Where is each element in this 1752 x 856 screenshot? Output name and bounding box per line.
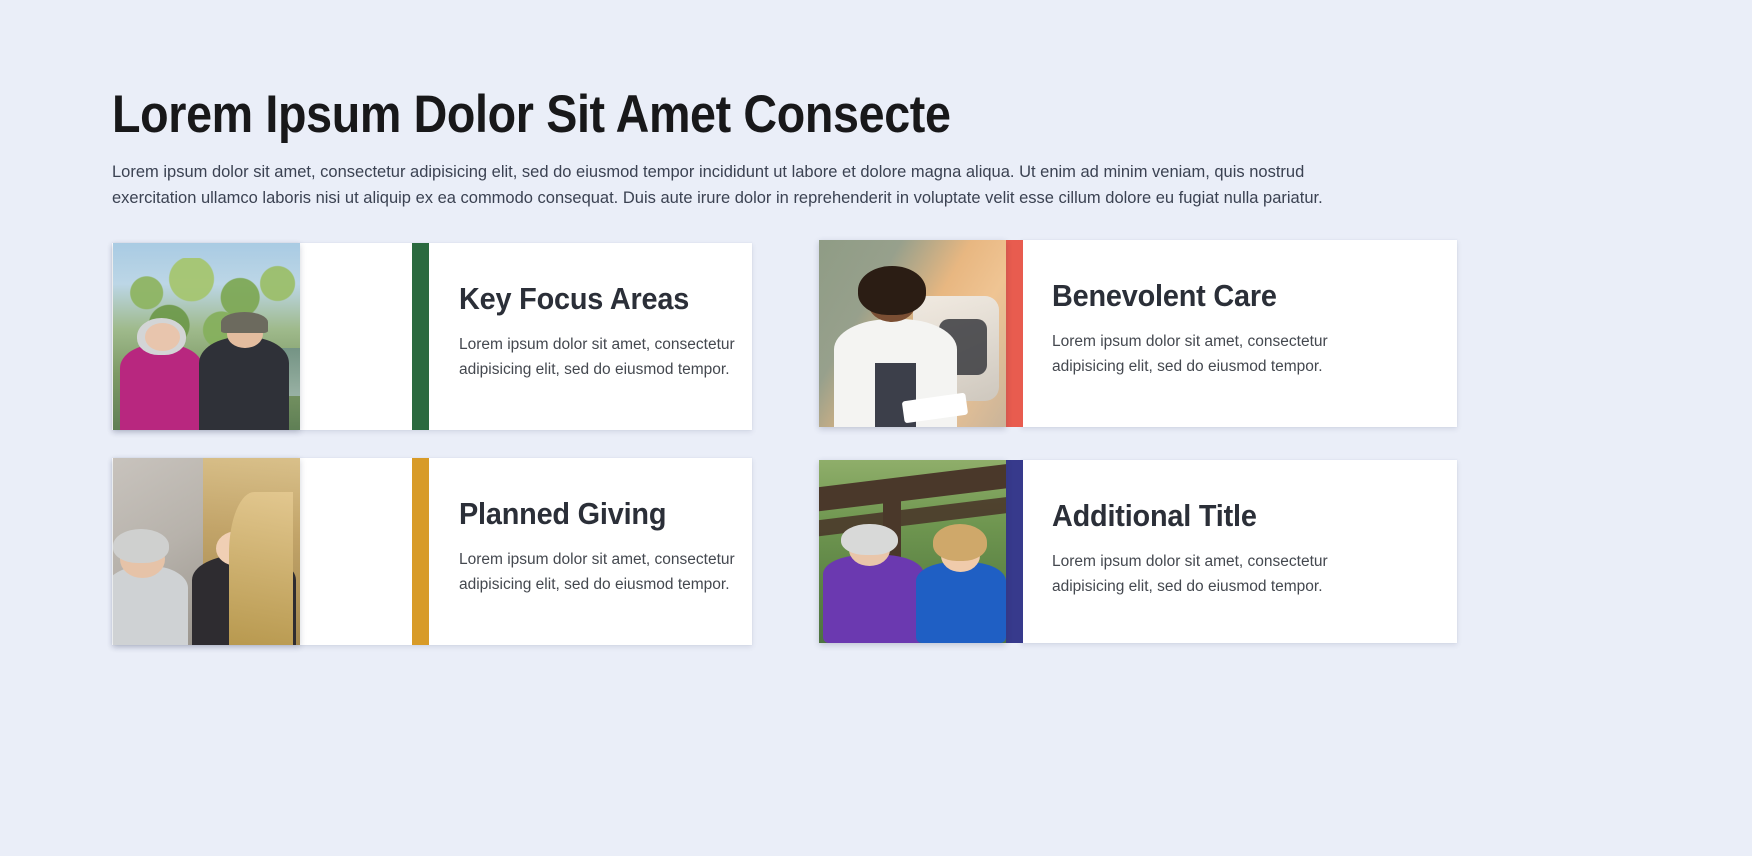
- page-root: Lorem Ipsum Dolor Sit Amet Consecte Lore…: [0, 0, 1752, 856]
- card-title: Additional Title: [1052, 498, 1387, 534]
- card-image-additional-title: [819, 460, 1006, 643]
- card-title: Key Focus Areas: [459, 281, 794, 317]
- card-title: Planned Giving: [459, 496, 794, 532]
- card-body: Benevolent Care Lorem ipsum dolor sit am…: [1052, 278, 1412, 379]
- card-accent-bar: [412, 458, 429, 645]
- card-benevolent-care[interactable]: Benevolent Care Lorem ipsum dolor sit am…: [1021, 240, 1457, 427]
- card-description: Lorem ipsum dolor sit amet, consectetur …: [459, 548, 804, 597]
- card-accent-bar: [1006, 460, 1023, 643]
- card-description: Lorem ipsum dolor sit amet, consectetur …: [1052, 550, 1397, 599]
- intro-paragraph: Lorem ipsum dolor sit amet, consectetur …: [112, 160, 1352, 211]
- card-description: Lorem ipsum dolor sit amet, consectetur …: [1052, 330, 1397, 379]
- card-title: Benevolent Care: [1052, 278, 1387, 314]
- card-body: Planned Giving Lorem ipsum dolor sit ame…: [459, 496, 819, 597]
- page-title: Lorem Ipsum Dolor Sit Amet Consecte: [112, 84, 951, 146]
- card-image-planned-giving: [113, 458, 300, 645]
- card-image-benevolent-care: [819, 240, 1006, 427]
- card-accent-bar: [1006, 240, 1023, 427]
- card-additional-title[interactable]: Additional Title Lorem ipsum dolor sit a…: [1021, 460, 1457, 643]
- card-body: Additional Title Lorem ipsum dolor sit a…: [1052, 498, 1412, 599]
- card-body: Key Focus Areas Lorem ipsum dolor sit am…: [459, 281, 819, 382]
- card-image-key-focus-areas: [113, 243, 300, 430]
- card-accent-bar: [412, 243, 429, 430]
- card-description: Lorem ipsum dolor sit amet, consectetur …: [459, 333, 804, 382]
